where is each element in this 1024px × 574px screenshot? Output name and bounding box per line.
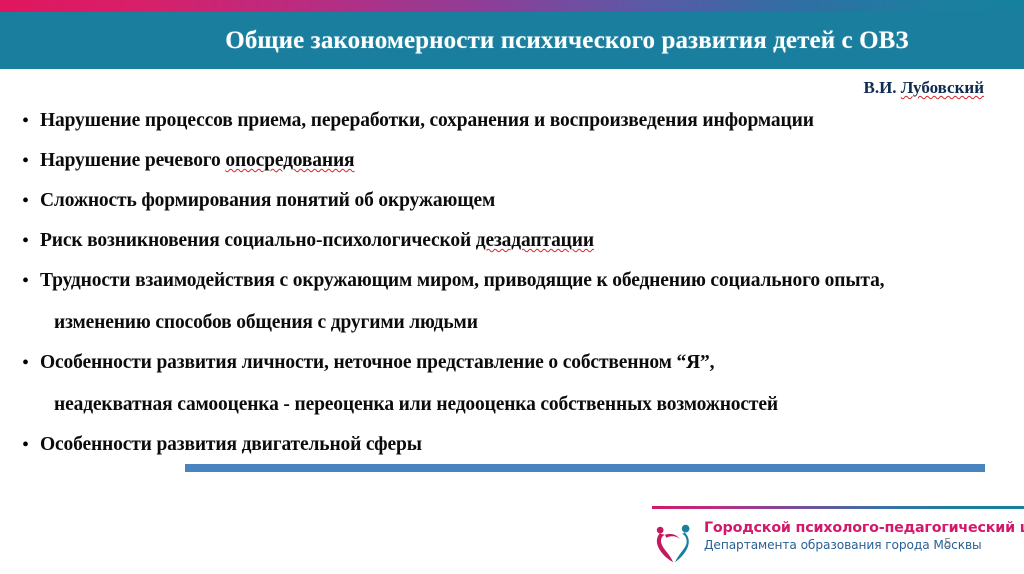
misspelled-word: дезадаптации xyxy=(476,230,594,251)
organization-department: Департамента образования города Москвы xyxy=(704,537,1024,553)
list-item-line1: Трудности взаимодействия с окружающим ми… xyxy=(40,270,884,291)
list-item-text: Нарушение речевого опосредования xyxy=(40,148,1010,174)
list-item-text: Риск возникновения социально-психологиче… xyxy=(40,228,1010,254)
footer-logo-block: Городской психолого-педагогический центр… xyxy=(648,506,1024,574)
author-surname: Лубовский xyxy=(901,78,984,97)
list-item: • Трудности взаимодействия с окружающим … xyxy=(14,268,1010,336)
list-item-text: Особенности развития двигательной сферы xyxy=(40,432,1010,458)
bullet-list: • Нарушение процессов приема, переработк… xyxy=(14,108,1010,472)
list-item-line1: Нарушение процессов приема, переработки,… xyxy=(40,110,814,131)
list-item-line1: Особенности развития личности, неточное … xyxy=(40,352,714,373)
list-item-text: Сложность формирования понятий об окружа… xyxy=(40,188,1010,214)
blue-divider-bar xyxy=(185,464,985,472)
footer-gradient-rule xyxy=(652,506,1024,509)
list-item-text: Трудности взаимодействия с окружающим ми… xyxy=(40,268,1010,336)
slide-title: Общие закономерности психического развит… xyxy=(0,12,1024,69)
bullet-point-icon: • xyxy=(14,350,40,376)
list-item-line1: Особенности развития двигательной сферы xyxy=(40,434,422,455)
bullet-point-icon: • xyxy=(14,108,40,134)
list-item: • Нарушение процессов приема, переработк… xyxy=(14,108,1010,134)
bullet-point-icon: • xyxy=(14,228,40,254)
author-attribution: В.И. Лубовский xyxy=(863,78,984,98)
list-item-line1: Риск возникновения социально-психологиче… xyxy=(40,230,476,251)
slide-page-number: 5 xyxy=(944,536,952,550)
list-item: • Риск возникновения социально-психологи… xyxy=(14,228,1010,254)
list-item: • Нарушение речевого опосредования xyxy=(14,148,1010,174)
organization-name: Городской психолого-педагогический центр xyxy=(704,520,1024,537)
bullet-point-icon: • xyxy=(14,148,40,174)
list-item-line1: Сложность формирования понятий об окружа… xyxy=(40,190,495,211)
bullet-point-icon: • xyxy=(14,268,40,294)
list-item: • Сложность формирования понятий об окру… xyxy=(14,188,1010,214)
list-item-text: Особенности развития личности, неточное … xyxy=(40,350,1010,418)
list-item-line1: Нарушение речевого xyxy=(40,150,225,171)
misspelled-word: опосредования xyxy=(225,150,354,171)
footer-logo-text: Городской психолого-педагогический центр… xyxy=(704,520,1024,553)
gppc-logo-icon xyxy=(652,520,700,568)
bullet-point-icon: • xyxy=(14,188,40,214)
list-item: • Особенности развития личности, неточно… xyxy=(14,350,1010,418)
author-initials: В.И. xyxy=(863,78,900,97)
bullet-point-icon: • xyxy=(14,432,40,458)
list-item-text: Нарушение процессов приема, переработки,… xyxy=(40,108,1010,134)
list-item-line2: неадекватная самооценка - переоценка или… xyxy=(40,392,1010,418)
list-item: • Особенности развития двигательной сфер… xyxy=(14,432,1010,458)
top-gradient-stripe xyxy=(0,0,1024,12)
list-item-line2: изменению способов общения с другими люд… xyxy=(40,310,1010,336)
